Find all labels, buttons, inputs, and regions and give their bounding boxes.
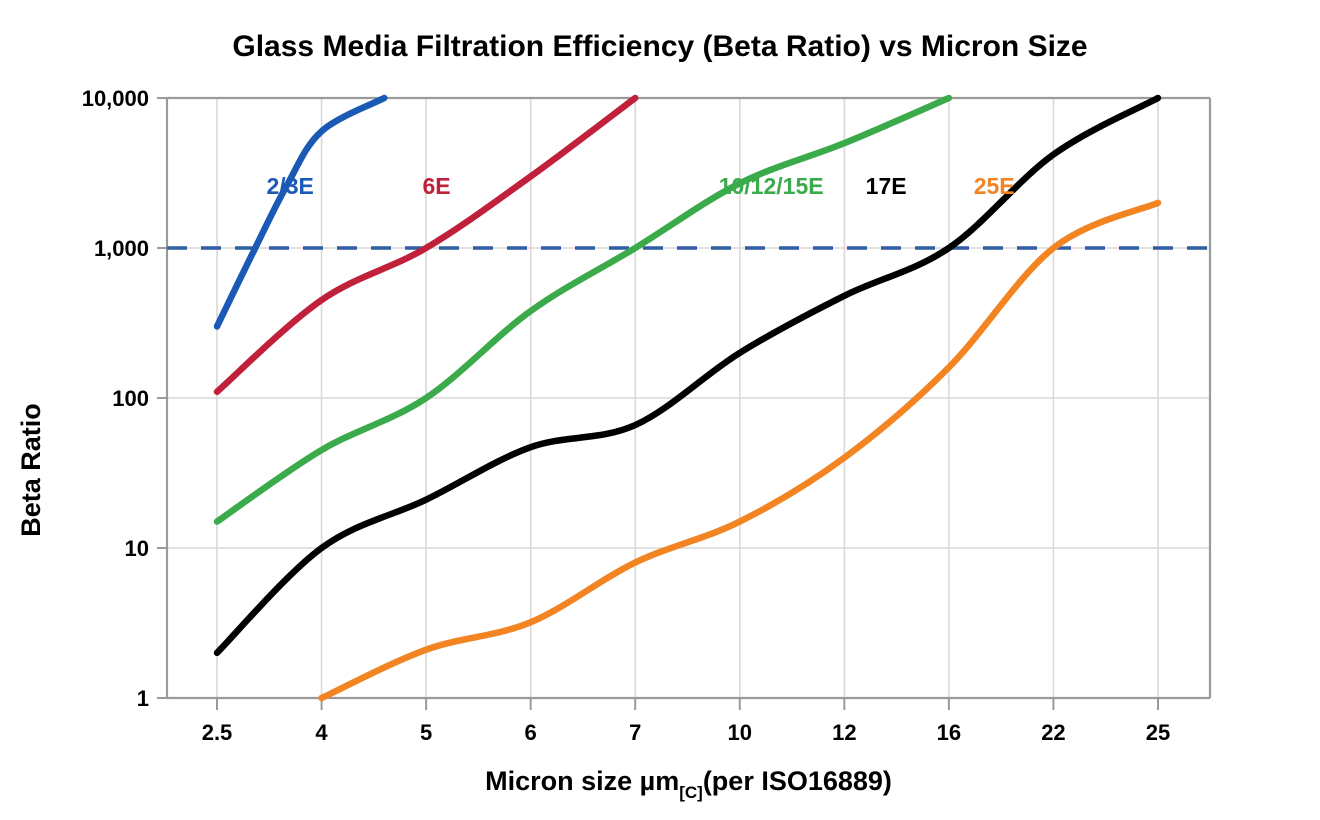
y-tick-label: 10 xyxy=(125,536,149,561)
x-tick-label: 7 xyxy=(629,720,641,745)
x-tick-label: 6 xyxy=(525,720,537,745)
chart-title: Glass Media Filtration Efficiency (Beta … xyxy=(232,30,1087,63)
x-axis-title-subscript: [C] xyxy=(679,783,703,802)
x-axis-title-main: Micron size µm xyxy=(485,766,679,796)
y-tick-label: 1,000 xyxy=(94,236,149,261)
chart-canvas: Glass Media Filtration Efficiency (Beta … xyxy=(0,0,1320,820)
x-tick-label: 25 xyxy=(1146,720,1170,745)
x-axis-title-suffix: (per ISO16889) xyxy=(703,766,892,796)
x-tick-label: 4 xyxy=(315,720,328,745)
x-tick-label: 12 xyxy=(832,720,856,745)
x-tick-label: 16 xyxy=(937,720,961,745)
y-tick-label: 10,000 xyxy=(82,86,149,111)
x-tick-label: 2.5 xyxy=(202,720,233,745)
x-tick-label: 22 xyxy=(1041,720,1065,745)
x-tick-label: 5 xyxy=(420,720,432,745)
series-label-6e: 6E xyxy=(422,173,450,199)
y-tick-label: 1 xyxy=(137,686,149,711)
x-tick-label: 10 xyxy=(728,720,752,745)
series-label-10-12-15e: 10/12/15E xyxy=(719,173,824,199)
y-tick-label: 100 xyxy=(112,386,149,411)
series-label-25e: 25E xyxy=(974,173,1015,199)
series-label-2-3e: 2/3E xyxy=(267,173,314,199)
series-label-17e: 17E xyxy=(866,173,907,199)
y-axis-title: Beta Ratio xyxy=(16,403,46,537)
